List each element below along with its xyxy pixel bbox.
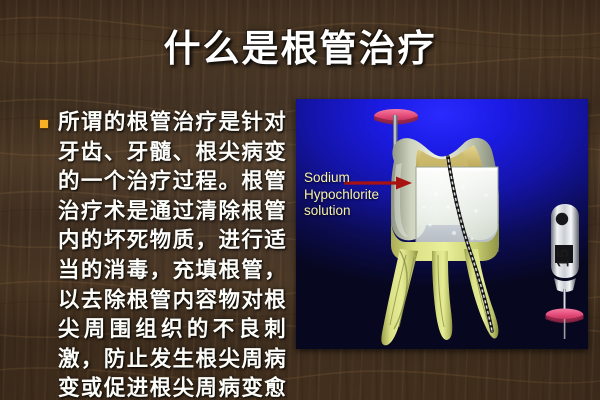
- tooth-crown: [391, 138, 499, 251]
- square-bullet-icon: [40, 120, 48, 128]
- bullet-text-block: 所谓的根管治疗是针对牙齿、牙髓、根尖病变的一个治疗过程。根管治疗术是通过清除根管…: [34, 108, 286, 400]
- sodium-hypochlorite-label: Sodium Hypochlorite solution: [304, 170, 379, 220]
- slide-title: 什么是根管治疗: [0, 28, 600, 72]
- tooth-illustration-panel: Sodium Hypochlorite solution 15: [296, 99, 588, 349]
- file-size-number: 15: [553, 249, 573, 268]
- body-paragraph: 所谓的根管治疗是针对牙齿、牙髓、根尖病变的一个治疗过程。根管治疗术是通过清除根管…: [58, 108, 286, 400]
- endodontic-file-instrument: [546, 204, 584, 339]
- tooth-roots: [381, 249, 498, 345]
- presentation-slide: 什么是根管治疗 所谓的根管治疗是针对牙齿、牙髓、根尖病变的一个治疗过程。根管治疗…: [0, 0, 600, 400]
- tooth-cross-section-graphic: [296, 99, 588, 349]
